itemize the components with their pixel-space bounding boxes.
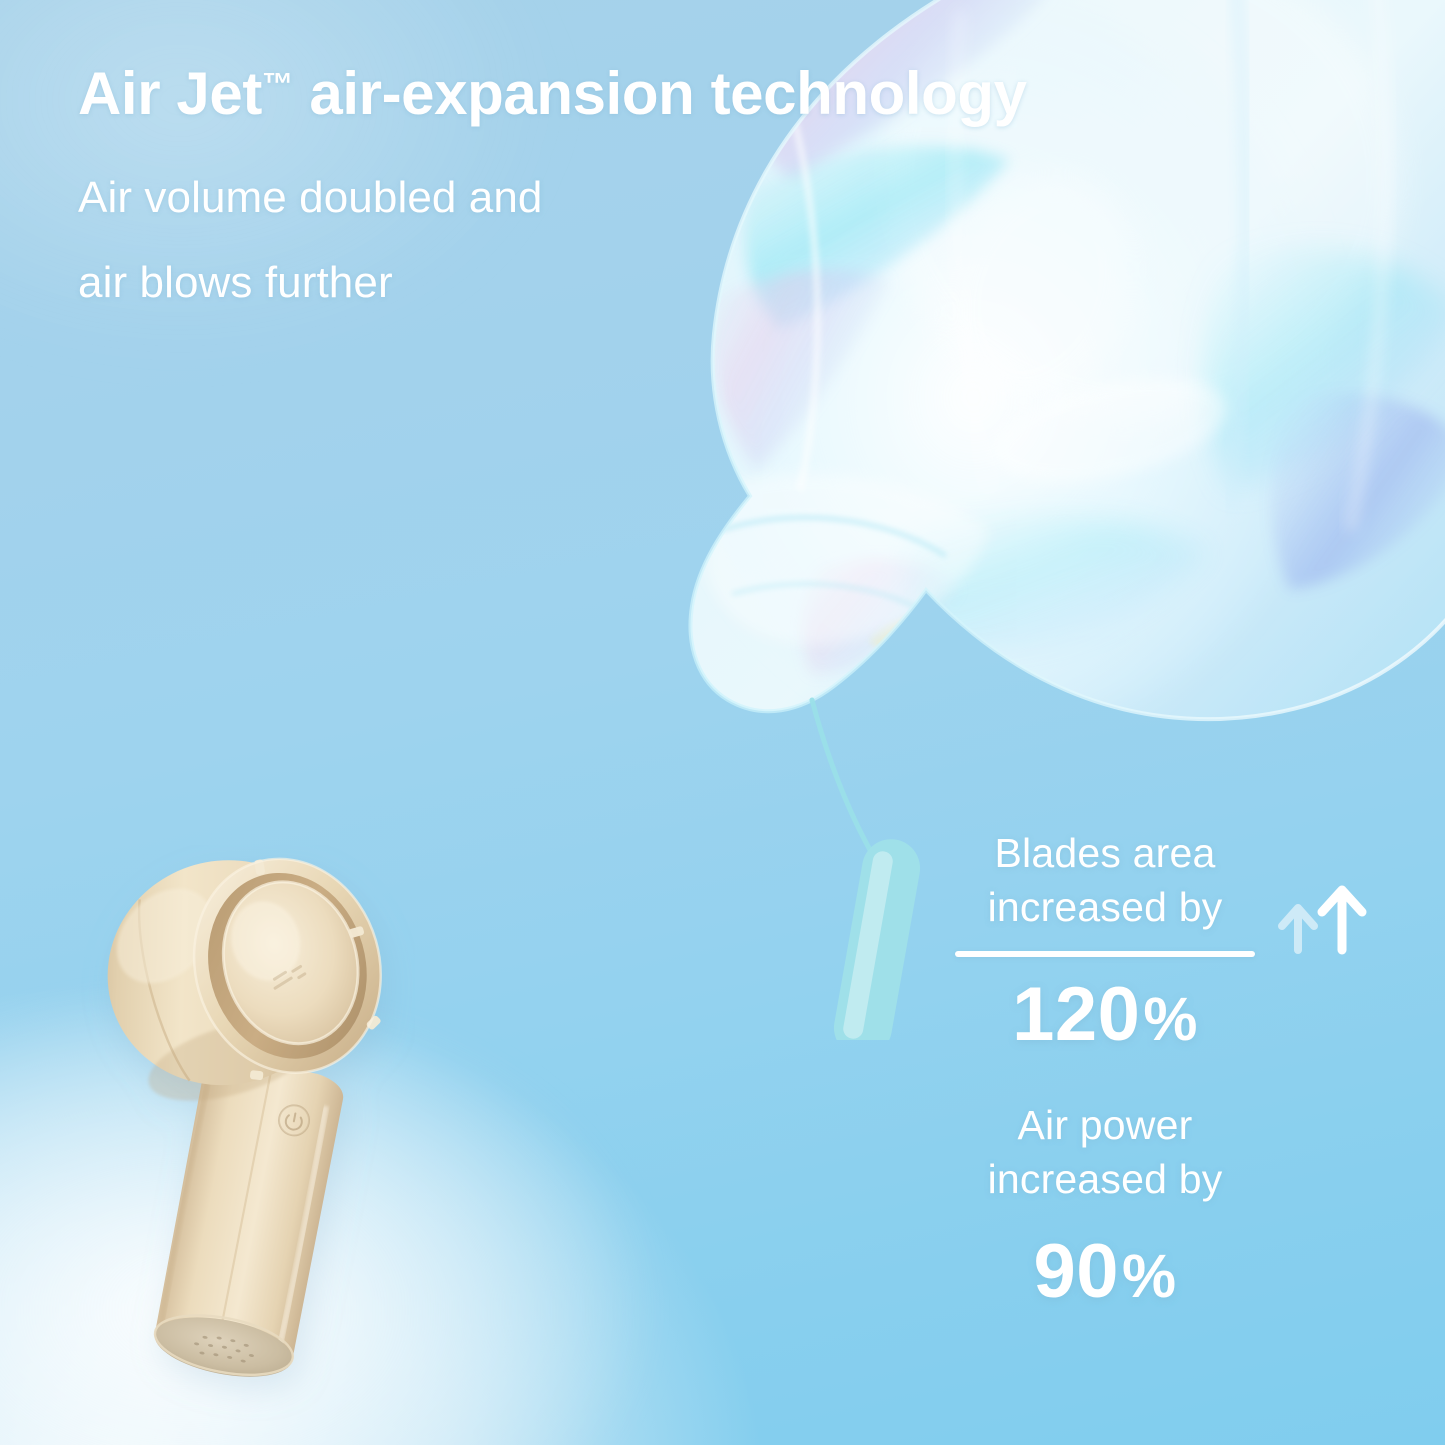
stat-1-unit: % [1143, 985, 1198, 1053]
product-feature-banner: Air Jet™ air-expansion technology Air vo… [0, 0, 1445, 1445]
stat-divider [955, 951, 1255, 957]
trademark-symbol: ™ [262, 67, 293, 102]
stat-2-caption-line-2: increased by [940, 1152, 1270, 1206]
subtitle: Air volume doubled and air blows further [78, 156, 1398, 326]
stat-2-unit: % [1122, 1242, 1177, 1310]
handheld-fan-product [55, 845, 415, 1435]
page-title: Air Jet™ air-expansion technology [78, 62, 1398, 126]
stat-2-caption-line-1: Air power [940, 1098, 1270, 1152]
stat-1-value: 120% [940, 977, 1270, 1053]
arrow-up-small-icon [1282, 908, 1314, 950]
statistics-block: Blades area increased by [940, 826, 1270, 1310]
headline-text-rest: air-expansion technology [293, 60, 1026, 127]
headline-text-main: Air Jet [78, 60, 262, 127]
increase-arrows [1268, 878, 1378, 958]
subtitle-line-2: air blows further [78, 241, 1398, 326]
bottom-left-glow [0, 1000, 640, 1445]
subtitle-line-1: Air volume doubled and [78, 156, 1398, 241]
stat-blades-area: Blades area increased by [940, 826, 1270, 1053]
headline-block: Air Jet™ air-expansion technology Air vo… [78, 62, 1398, 325]
bubble-wand [812, 700, 925, 1040]
stat-2-number: 90 [1033, 1229, 1119, 1314]
arrow-up-large-icon [1322, 890, 1362, 950]
stat-1-caption: Blades area increased by [940, 826, 1270, 934]
stat-1-number: 120 [1012, 972, 1140, 1057]
power-button-emboss [276, 1103, 311, 1138]
stat-air-power: Air power increased by 90% [940, 1098, 1270, 1310]
stat-1-caption-line-1: Blades area [940, 826, 1270, 880]
stat-1-caption-line-2: increased by [940, 880, 1270, 934]
stat-2-caption: Air power increased by [940, 1098, 1270, 1206]
stat-2-value: 90% [940, 1234, 1270, 1310]
